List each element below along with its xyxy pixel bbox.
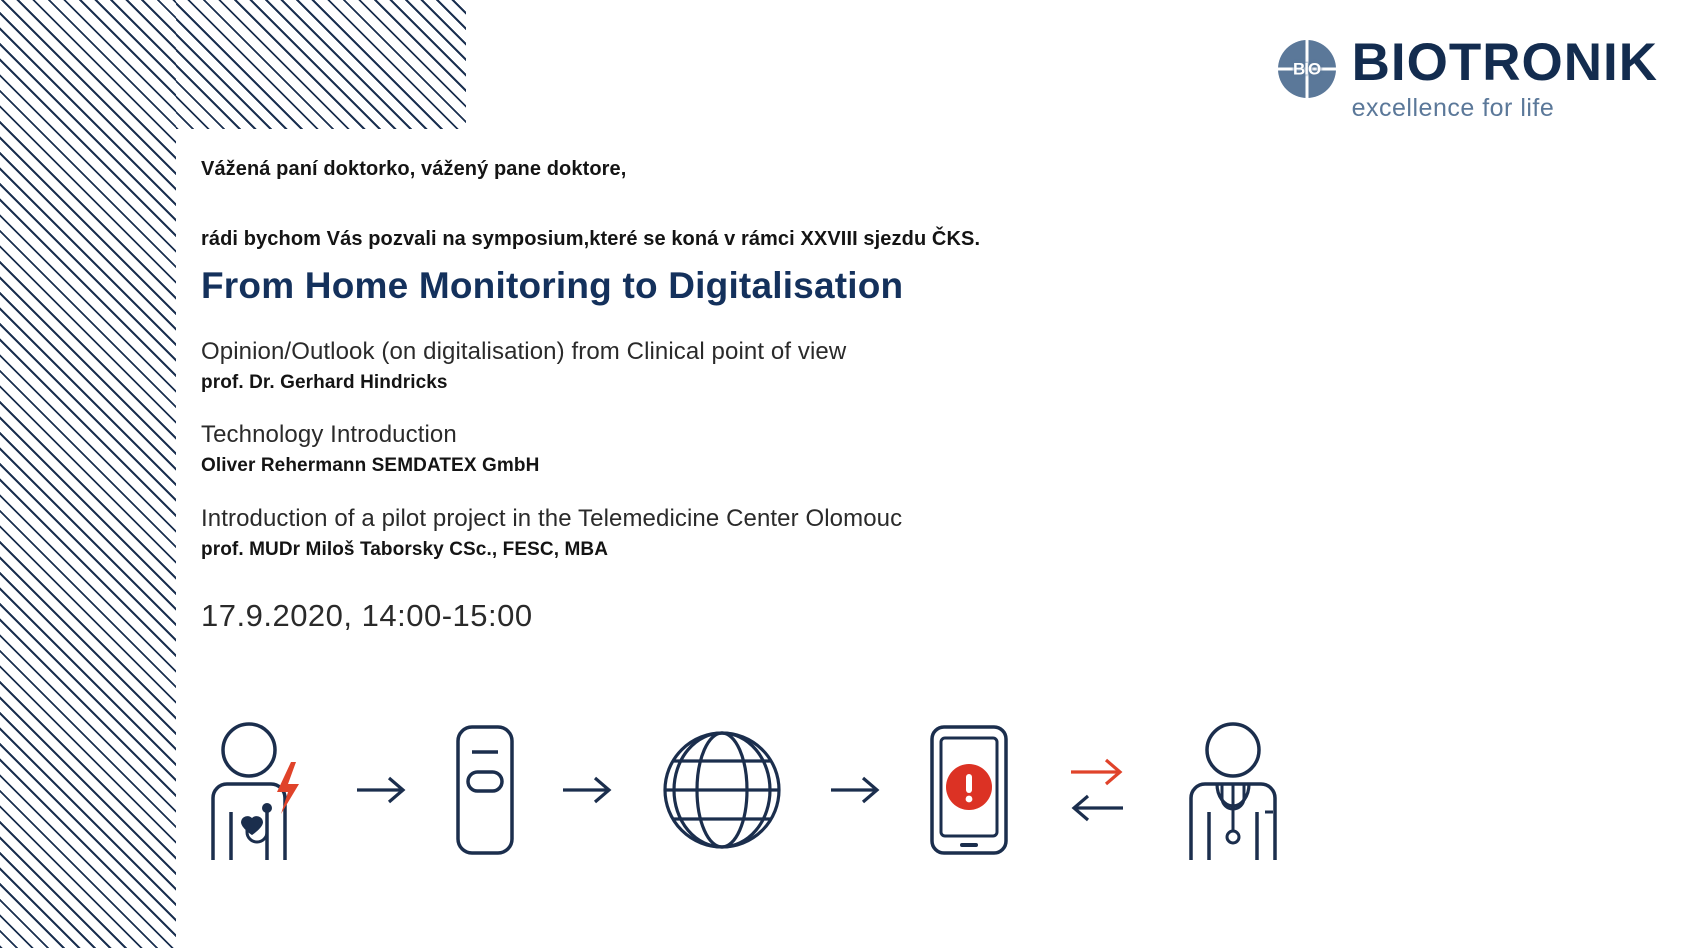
logo-wordmark: BIOTRONIK <box>1352 36 1658 90</box>
talk-speaker: prof. MUDr Miloš Taborsky CSc., FESC, MB… <box>201 538 1401 563</box>
talk-item: Technology Introduction Oliver Rehermann… <box>201 420 1401 478</box>
diagonal-stripe-band-top <box>176 0 466 129</box>
talk-speaker: prof. Dr. Gerhard Hindricks <box>201 371 1401 396</box>
invitation-text: rádi bychom Vás pozvali na symposium,kte… <box>201 228 1401 251</box>
talk-title: Technology Introduction <box>201 420 1401 451</box>
arrow-right-icon <box>561 775 615 805</box>
talk-item: Opinion/Outlook (on digitalisation) from… <box>201 337 1401 395</box>
diagonal-stripe-band-left <box>0 0 176 948</box>
bidirectional-arrow-icon <box>1067 754 1127 826</box>
logo-tagline: excellence for life <box>1352 94 1658 123</box>
workflow-diagram <box>205 700 1525 880</box>
greeting-text: Vážená paní doktorko, vážený pane doktor… <box>201 158 1401 181</box>
talk-title: Opinion/Outlook (on digitalisation) from… <box>201 337 1401 368</box>
tablet-alert-icon <box>929 724 1009 856</box>
talk-title: Introduction of a pilot project in the T… <box>201 504 1401 535</box>
globe-network-icon <box>661 729 783 851</box>
logo-mark-label: BIO <box>1293 61 1320 78</box>
page-title: From Home Monitoring to Digitalisation <box>201 265 1401 307</box>
talk-speaker: Oliver Rehermann SEMDATEX GmbH <box>201 454 1401 479</box>
arrow-right-icon <box>829 775 883 805</box>
arrow-right-icon <box>355 775 409 805</box>
event-datetime: 17.9.2020, 14:00-15:00 <box>201 598 1401 634</box>
talk-item: Introduction of a pilot project in the T… <box>201 504 1401 562</box>
home-monitoring-transmitter-icon <box>455 724 515 856</box>
patient-with-implant-icon <box>205 720 309 860</box>
doctor-icon <box>1185 720 1281 860</box>
biotronik-circle-mark-icon: BIO <box>1278 40 1336 98</box>
biotronik-logo: BIO BIOTRONIK excellence for life <box>1278 36 1658 123</box>
invitation-content: Vážená paní doktorko, vážený pane doktor… <box>201 158 1401 634</box>
